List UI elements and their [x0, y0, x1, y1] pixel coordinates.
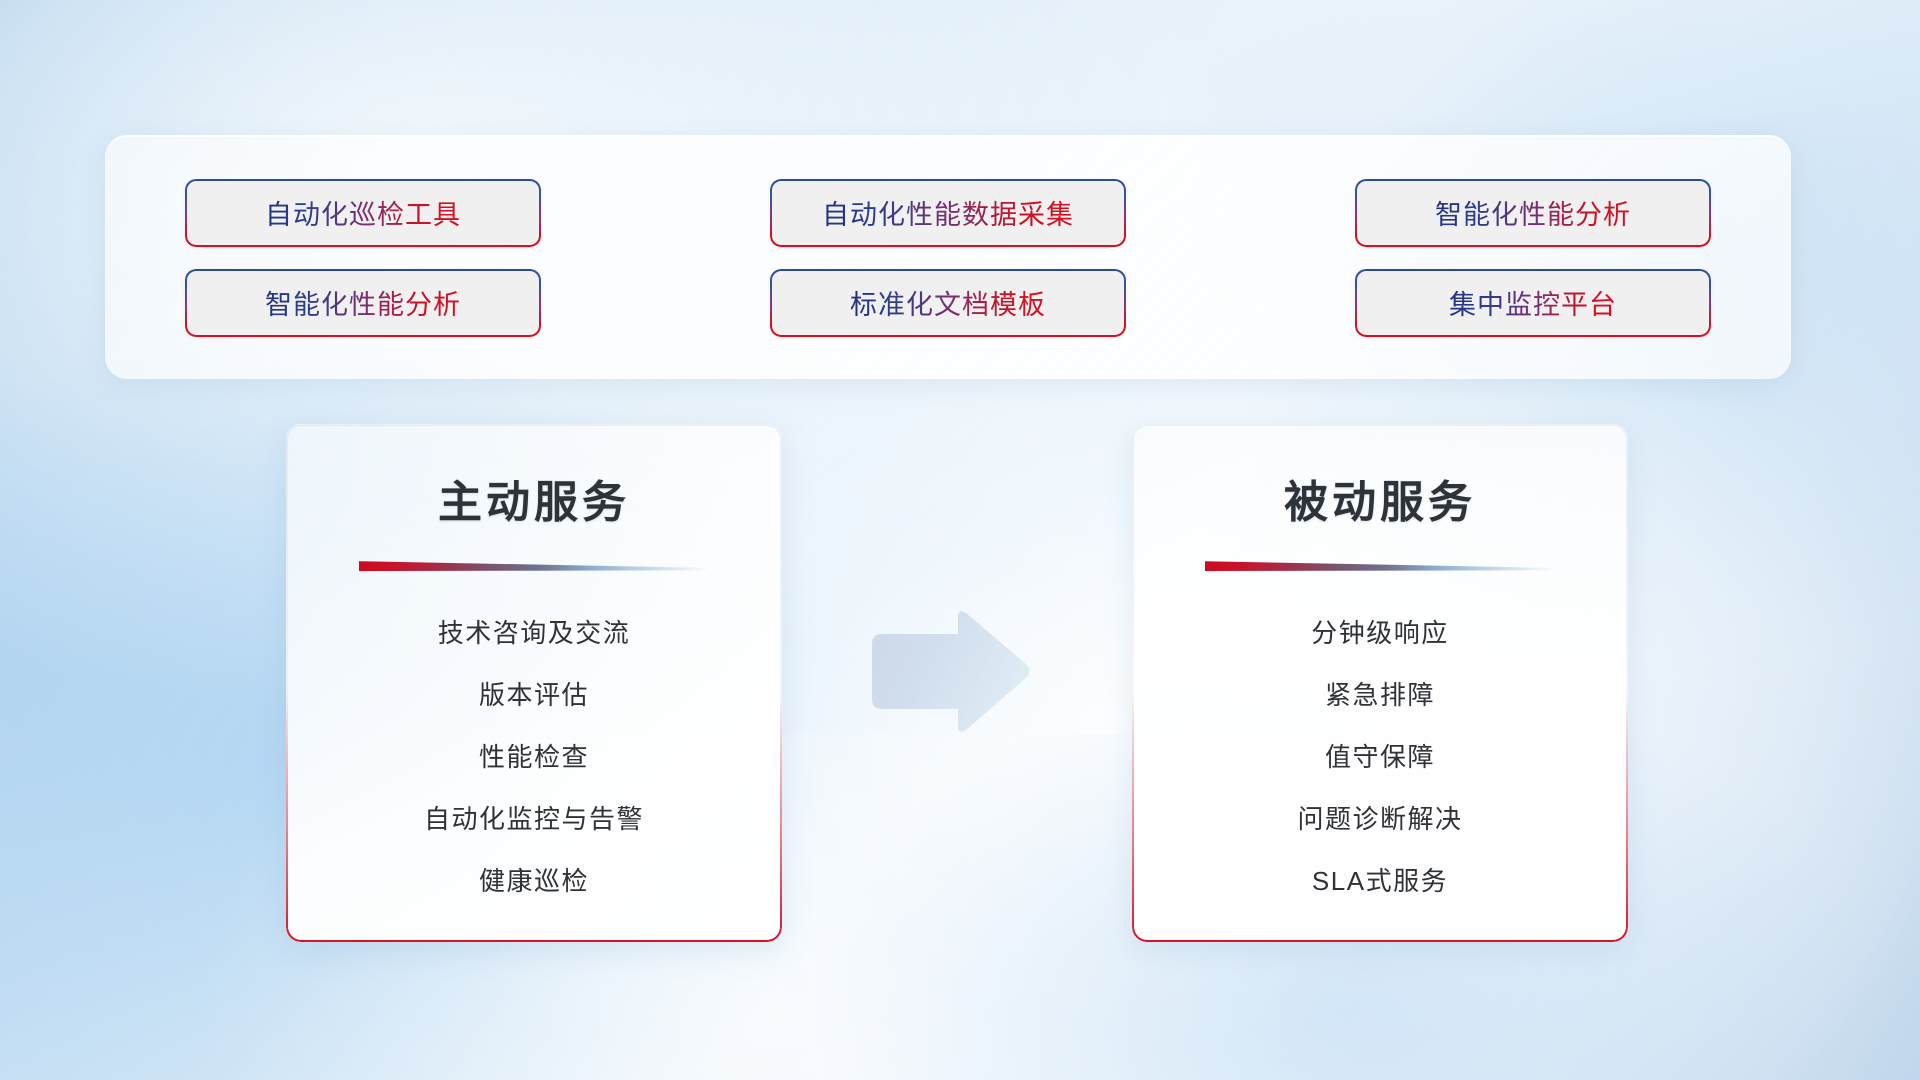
arrow-right-icon: [866, 608, 1032, 736]
list-item: 分钟级响应: [1311, 602, 1449, 664]
capability-pill-label: 智能化性能分析: [265, 283, 461, 322]
capability-pill-standardized-document-template[interactable]: 标准化文档模板: [770, 269, 1126, 337]
list-item: 自动化监控与告警: [424, 788, 644, 850]
capability-pill-label: 自动化巡检工具: [265, 193, 461, 232]
list-item: 性能检查: [479, 726, 589, 788]
list-item: 技术咨询及交流: [438, 602, 631, 664]
capability-row-1: 自动化巡检工具 自动化性能数据采集 智能化性能分析: [185, 179, 1711, 247]
capability-pill-intelligent-performance-analysis-bottom[interactable]: 智能化性能分析: [185, 269, 541, 337]
card-title: 主动服务: [286, 466, 782, 530]
card-divider: [1205, 560, 1555, 572]
list-item: 值守保障: [1325, 726, 1435, 788]
capability-pill-label: 标准化文档模板: [850, 283, 1046, 322]
service-card-reactive[interactable]: 被动服务 分钟级响应 紧急排障 值守保障 问题诊断解决 SLA式服务: [1132, 424, 1628, 942]
list-item: SLA式服务: [1312, 850, 1448, 912]
card-item-list: 技术咨询及交流 版本评估 性能检查 自动化监控与告警 健康巡检: [286, 602, 782, 912]
diagram-canvas: 自动化巡检工具 自动化性能数据采集 智能化性能分析 智能化性能分析 标准化文档模…: [0, 0, 1920, 1080]
card-divider-bar: [359, 560, 709, 572]
list-item: 问题诊断解决: [1297, 788, 1462, 850]
capability-row-2: 智能化性能分析 标准化文档模板 集中监控平台: [185, 269, 1711, 337]
service-card-proactive[interactable]: 主动服务 技术咨询及交流 版本评估 性能检查 自动化监控与告警 健康巡检: [286, 424, 782, 942]
card-divider: [359, 560, 709, 572]
capability-pill-automated-performance-data-collection[interactable]: 自动化性能数据采集: [770, 179, 1126, 247]
card-item-list: 分钟级响应 紧急排障 值守保障 问题诊断解决 SLA式服务: [1132, 602, 1628, 912]
capability-pill-label: 智能化性能分析: [1435, 193, 1631, 232]
capability-pill-intelligent-performance-analysis-top[interactable]: 智能化性能分析: [1355, 179, 1711, 247]
card-divider-bar: [1205, 560, 1555, 572]
capability-pill-automated-inspection-tool[interactable]: 自动化巡检工具: [185, 179, 541, 247]
list-item: 紧急排障: [1325, 664, 1435, 726]
list-item: 版本评估: [479, 664, 589, 726]
capability-pill-label: 自动化性能数据采集: [822, 193, 1074, 232]
capability-pill-label: 集中监控平台: [1449, 283, 1617, 322]
capability-pill-centralized-monitoring-platform[interactable]: 集中监控平台: [1355, 269, 1711, 337]
card-title: 被动服务: [1132, 466, 1628, 530]
list-item: 健康巡检: [479, 850, 589, 912]
capability-panel: 自动化巡检工具 自动化性能数据采集 智能化性能分析 智能化性能分析 标准化文档模…: [105, 135, 1791, 379]
